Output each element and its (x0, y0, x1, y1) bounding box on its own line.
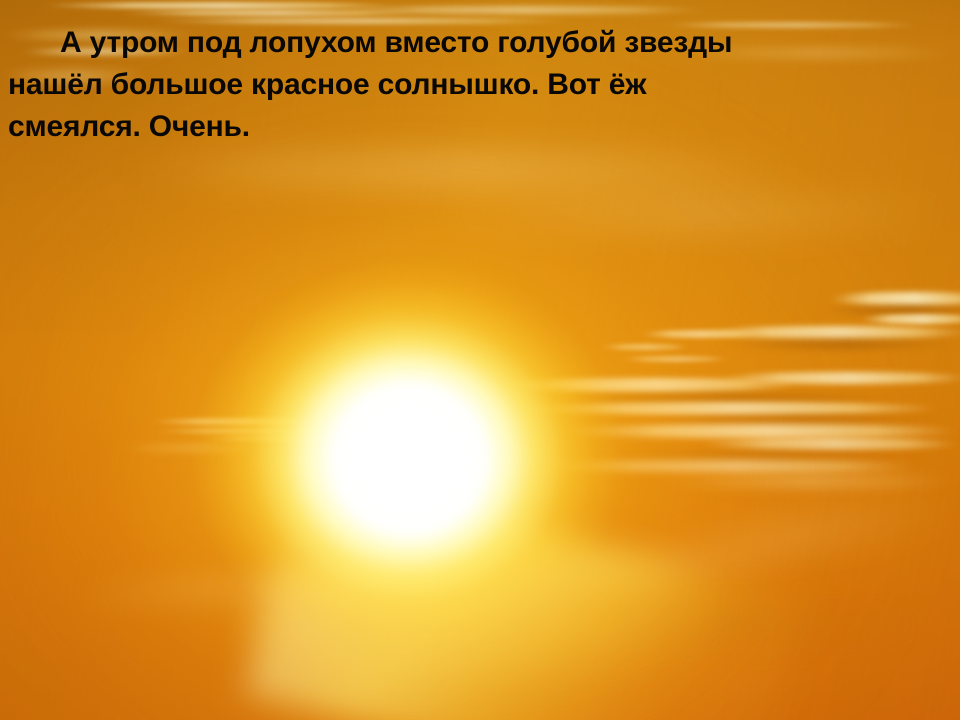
sunset-caption-slide: А утром под лопухом вместо голубой звезд… (0, 0, 960, 720)
caption-text-block: А утром под лопухом вместо голубой звезд… (0, 22, 960, 148)
caption-line-2: нашёл большое красное солнышко. Вот ёж (8, 64, 950, 106)
caption-line-3: смеялся. Очень. (8, 106, 950, 148)
caption-line-1: А утром под лопухом вместо голубой звезд… (8, 22, 950, 64)
sun-disc (316, 368, 502, 550)
